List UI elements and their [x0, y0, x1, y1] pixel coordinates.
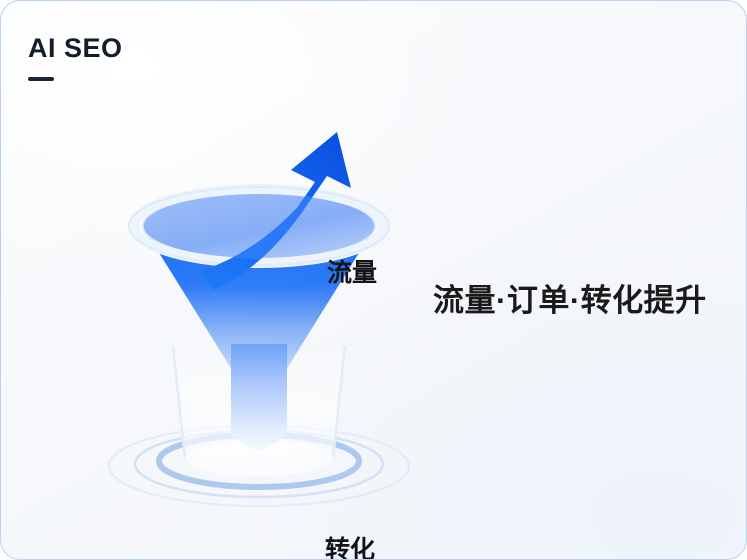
funnel-illustration: 流量 转化 [101, 96, 431, 516]
label-conversion: 转化 [325, 530, 375, 560]
page-title: AI SEO [28, 35, 123, 62]
slide-canvas: AI SEO [0, 0, 747, 560]
funnel-growth-graphic [101, 96, 431, 516]
headline-text: 流量·订单·转化提升 [433, 275, 707, 320]
title-block: AI SEO [28, 35, 123, 81]
label-traffic: 流量 [327, 253, 377, 289]
title-underline-dash [28, 77, 54, 81]
